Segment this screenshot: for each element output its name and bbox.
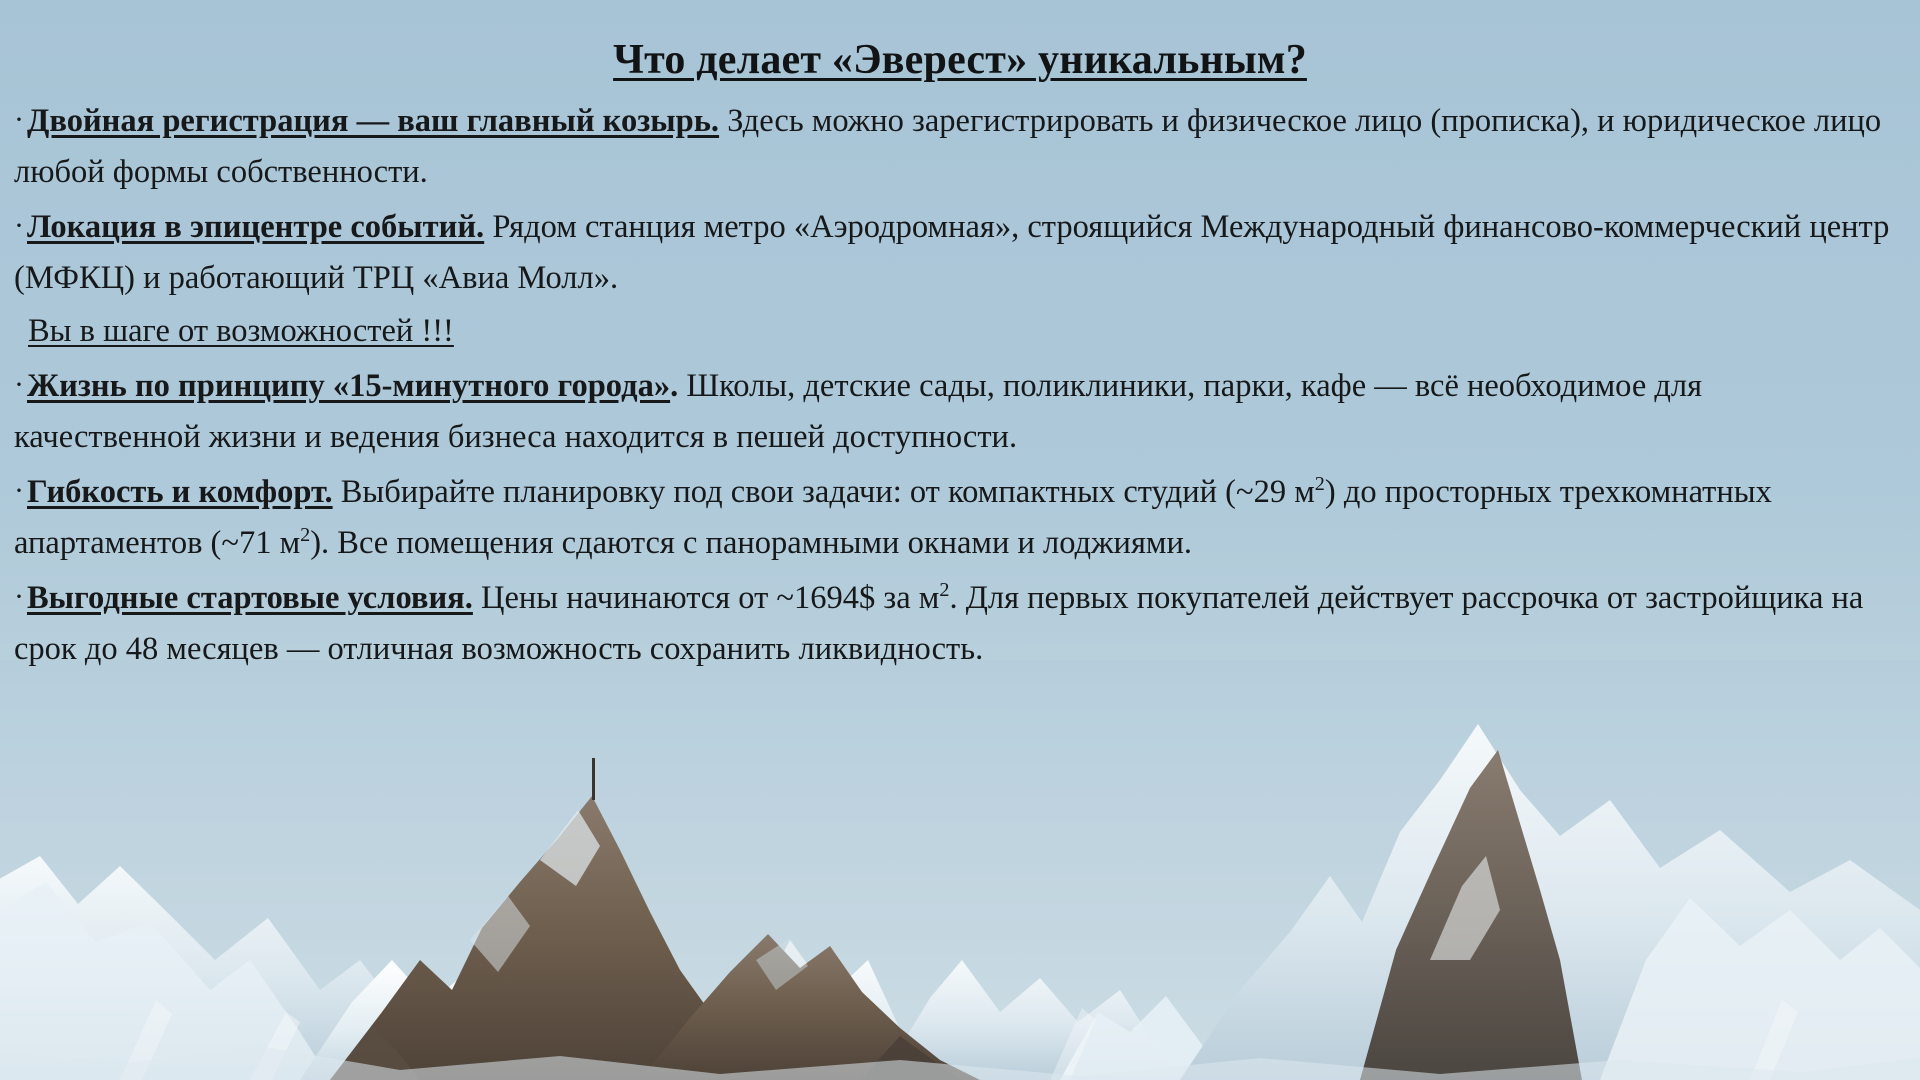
superscript-square-meters-3: 2	[939, 579, 949, 601]
bullet-glyph: ·	[14, 474, 27, 507]
list-item: ·Двойная регистрация — ваш главный козыр…	[14, 94, 1892, 198]
bullet-lead-punct: .	[670, 368, 678, 404]
presentation-slide: Что делает «Эверест» уникальным? ·Двойна…	[0, 0, 1920, 1080]
bullet-lead-15-minute-city: Жизнь по принципу «15-минутного города»	[27, 368, 670, 404]
bullet-lead-pricing: Выгодные стартовые условия.	[27, 580, 473, 616]
bullet-lead-flexibility: Гибкость и комфорт.	[27, 474, 333, 510]
bullet-body-flexibility-post: ). Все помещения сдаются с панорамными о…	[310, 525, 1192, 561]
bullet-lead-location: Локация в эпицентре событий.	[27, 209, 484, 245]
bullet-body-flexibility-pre: Выбирайте планировку под свои задачи: от…	[333, 474, 1315, 510]
callout-text: Вы в шаге от возможностей !!!	[28, 313, 454, 349]
list-item: ·Локация в эпицентре событий. Рядом стан…	[14, 200, 1892, 304]
callout-line: Вы в шаге от возможностей !!!	[14, 306, 1892, 357]
benefits-list: ·Двойная регистрация — ваш главный козыр…	[0, 94, 1920, 675]
list-item: ·Выгодные стартовые условия. Цены начина…	[14, 571, 1892, 675]
bullet-glyph: ·	[14, 209, 27, 242]
list-item: ·Жизнь по принципу «15-минутного города»…	[14, 359, 1892, 463]
list-item: ·Гибкость и комфорт. Выбирайте планировк…	[14, 465, 1892, 569]
superscript-square-meters-2: 2	[300, 524, 310, 546]
bullet-lead-dual-registration: Двойная регистрация — ваш главный козырь…	[27, 103, 719, 139]
bullet-glyph: ·	[14, 368, 27, 401]
mountain-range-photo	[0, 660, 1920, 1080]
page-title: Что делает «Эверест» уникальным?	[0, 0, 1920, 94]
bullet-glyph: ·	[14, 580, 27, 613]
bullet-glyph: ·	[14, 103, 27, 136]
superscript-square-meters-1: 2	[1315, 473, 1325, 495]
slide-text-content: Что делает «Эверест» уникальным? ·Двойна…	[0, 0, 1920, 677]
bullet-body-pricing-pre: Цены начинаются от ~1694$ за м	[473, 580, 939, 616]
